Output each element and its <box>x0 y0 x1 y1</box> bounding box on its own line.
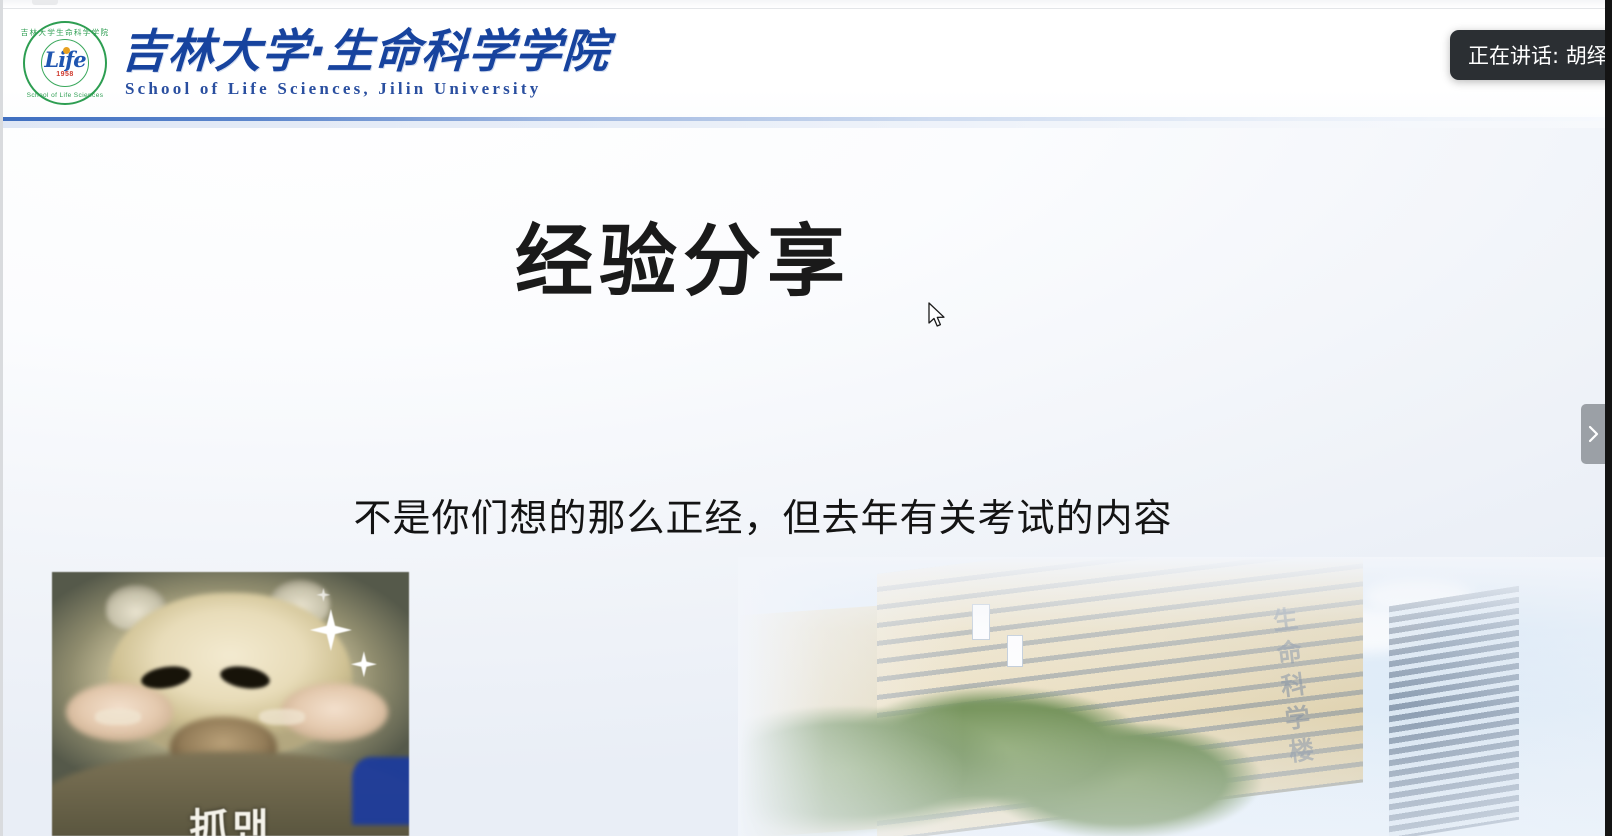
brand-text-block: 吉林大学·生命科学学院 School of Life Sciences, Jil… <box>121 27 609 99</box>
seal-arc-cn-label: 吉林大学生命科学学院 <box>18 27 112 38</box>
school-seal-icon: 吉林大学生命科学学院 Life 1958 School of Life Scie… <box>19 17 111 109</box>
slide-title: 经验分享 <box>3 223 1363 301</box>
campus-building-photo: 生 命 科 学 楼 <box>738 557 1606 836</box>
brand-name-cn: 吉林大学·生命科学学院 <box>120 27 611 77</box>
chevron-right-icon <box>1588 425 1599 443</box>
school-brand-lockup: 吉林大学生命科学学院 Life 1958 School of Life Scie… <box>19 17 609 109</box>
seal-arc-en-label: School of Life Sciences <box>19 92 111 99</box>
meeting-share-window: 吉林大学生命科学学院 Life 1958 School of Life Scie… <box>0 0 1612 836</box>
window-chrome-tab-stub <box>32 0 58 5</box>
header-divider-soft <box>3 121 1606 128</box>
seal-accent-dot <box>63 47 70 54</box>
slide-subtitle: 不是你们想的那么正经，但去年有关考试的内容 <box>3 495 1523 543</box>
slide-header-band: 吉林大学生命科学学院 Life 1958 School of Life Scie… <box>3 9 1606 121</box>
active-speaker-label: 正在讲话: 胡绎 <box>1468 40 1608 70</box>
seal-year-label: 1958 <box>19 71 111 78</box>
active-speaker-badge: 正在讲话: 胡绎 <box>1450 30 1612 80</box>
shared-slide-stage: 吉林大学生命科学学院 Life 1958 School of Life Scie… <box>3 9 1606 836</box>
meme-caption-label: 抓맨 <box>52 796 409 836</box>
brand-name-en: School of Life Sciences, Jilin Universit… <box>121 79 609 99</box>
meme-image: 抓맨 <box>52 572 409 836</box>
window-left-edge <box>0 0 3 836</box>
expand-side-panel-button[interactable] <box>1581 404 1605 464</box>
window-chrome-top-strip <box>0 0 1606 9</box>
window-right-edge <box>1605 0 1612 836</box>
